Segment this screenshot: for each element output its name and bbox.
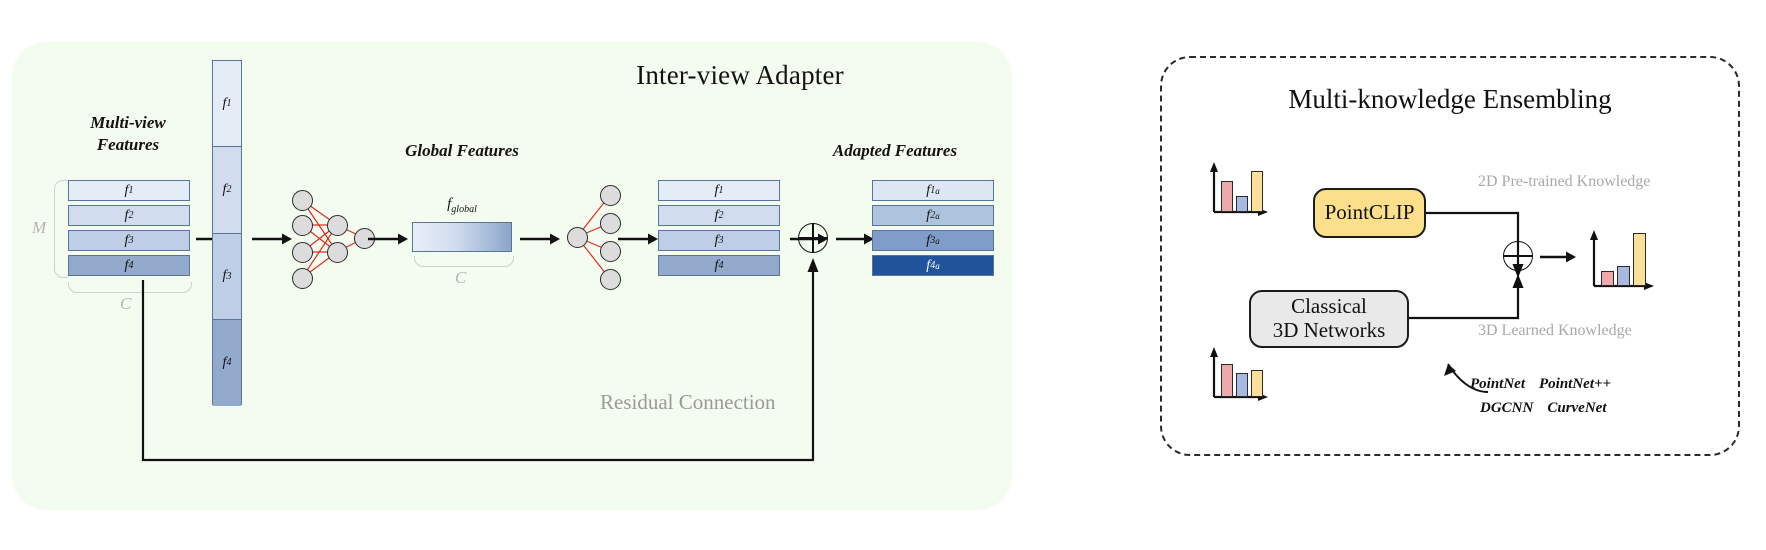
chart-bar [1236, 196, 1248, 212]
chart-bar [1617, 266, 1630, 286]
f-global-subscript: global [451, 204, 477, 215]
multi-view-features-label: Multi-view Features [48, 112, 208, 156]
mlp-node [600, 185, 621, 206]
arrow-right-icon [618, 232, 658, 244]
network-names-list: PointNet PointNet++ DGCNN CurveNet [1470, 372, 1670, 420]
chart-bar [1236, 373, 1248, 397]
arrow-right-icon [836, 232, 874, 244]
network-names-row: PointNet PointNet++ [1470, 372, 1670, 396]
pointclip-label: PointCLIP [1325, 201, 1415, 225]
adapted-feature-box: f3a [872, 230, 994, 251]
arrow-right-icon [368, 232, 408, 244]
label-2d-knowledge: 2D Pre-trained Knowledge [1478, 173, 1650, 191]
feature-subscript: 2 [718, 210, 723, 221]
feature-subscript: 3 [128, 235, 133, 246]
dim-label-m: M [32, 218, 46, 238]
multi-view-label-line2: Features [48, 134, 208, 156]
adapted-features-label: Adapted Features [800, 140, 990, 162]
adapted-feature-box: f1a [872, 180, 994, 201]
feature-box: f2 [68, 205, 190, 226]
adapted-feature-box: f2a [872, 205, 994, 226]
residual-connection-label: Residual Connection [600, 390, 776, 415]
feature-subscript: 2 [128, 210, 133, 221]
feature-box: f3 [658, 230, 780, 251]
classical-3d-networks-box[interactable]: Classical 3D Networks [1249, 290, 1409, 348]
chart-bar [1221, 181, 1233, 212]
feature-subscript: 1 [718, 185, 723, 196]
chart-bar [1601, 271, 1614, 286]
chart-bar [1221, 364, 1233, 397]
concat-segment: f1 [213, 61, 241, 147]
global-feature-bar [412, 222, 512, 252]
connector-2d-knowledge [1426, 196, 1556, 281]
mlp-node [292, 215, 313, 236]
chart-bar [1633, 233, 1646, 286]
network-name: DGCNN [1480, 396, 1533, 420]
page-title: Inter-view Adapter [580, 60, 900, 91]
arrow-right-icon [252, 232, 292, 244]
mlp-node [327, 215, 348, 236]
feature-superscript: a [935, 186, 940, 196]
feature-box: f1 [658, 180, 780, 201]
feature-subscript: 1 [128, 185, 133, 196]
feature-box: f1 [68, 180, 190, 201]
multi-view-label-line1: Multi-view [48, 112, 208, 134]
concat-segment: f2 [213, 147, 241, 233]
residual-connection-path [120, 250, 840, 475]
arrow-right-icon [1540, 250, 1576, 262]
bar-chart-classical3d-input [1208, 345, 1270, 403]
segment-subscript: 1 [226, 98, 231, 109]
pointclip-box[interactable]: PointCLIP [1313, 188, 1426, 238]
brace-m [54, 180, 67, 278]
adapted-feature-box: f4a [872, 255, 994, 276]
ensemble-add-icon [1503, 241, 1533, 271]
chart-bar [1251, 370, 1263, 397]
diagram-canvas: Inter-view Adapter Multi-view Features M… [0, 0, 1766, 550]
mlp-node [600, 213, 621, 234]
network-names-row: DGCNN CurveNet [1470, 396, 1670, 420]
network-name: CurveNet [1547, 396, 1606, 420]
feature-subscript: 3 [718, 235, 723, 246]
residual-add-icon [798, 223, 828, 253]
global-features-label: Global Features [382, 140, 542, 162]
feature-superscript: a [935, 261, 940, 271]
classical-label-line1: Classical [1291, 295, 1367, 319]
classical-label-line2: 3D Networks [1273, 319, 1386, 343]
arrow-right-icon [520, 232, 560, 244]
mlp-node [567, 227, 588, 248]
right-panel-title: Multi-knowledge Ensembling [1160, 84, 1740, 115]
label-3d-knowledge: 3D Learned Knowledge [1478, 322, 1632, 340]
feature-superscript: a [935, 236, 940, 246]
network-name: PointNet++ [1539, 372, 1611, 396]
network-name: PointNet [1470, 372, 1525, 396]
feature-box: f3 [68, 230, 190, 251]
bar-chart-pointclip-input [1208, 160, 1270, 218]
segment-subscript: 2 [226, 184, 231, 195]
bar-chart-ensembled-output [1588, 228, 1660, 294]
chart-bar [1251, 171, 1263, 212]
adapted-feature-stack: f1a f2a f3a f4a [872, 180, 994, 276]
feature-box: f2 [658, 205, 780, 226]
feature-superscript: a [935, 211, 940, 221]
mlp-node [292, 190, 313, 211]
f-global-label: fglobal [412, 196, 512, 215]
